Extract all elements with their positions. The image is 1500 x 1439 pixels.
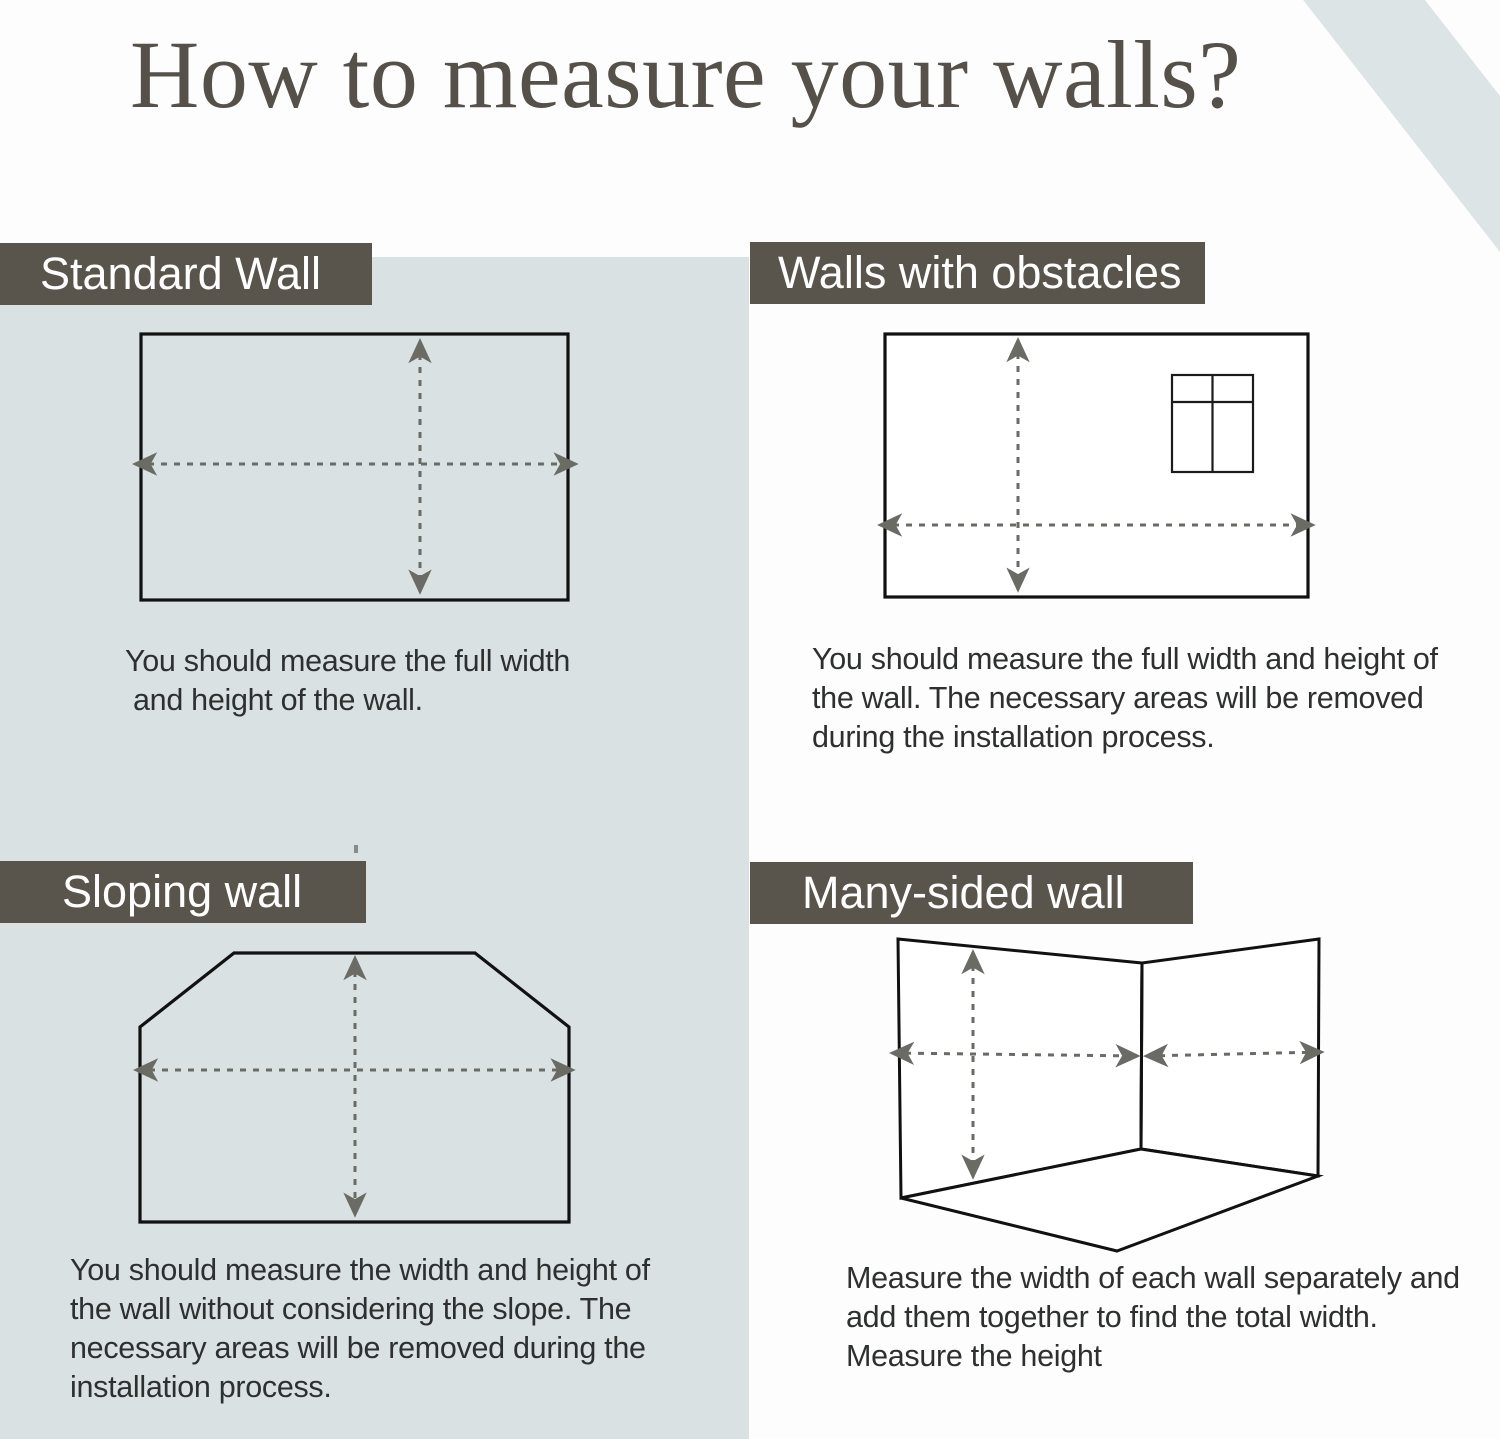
caption-many-sided-wall: Measure the width of each wall separatel… xyxy=(846,1259,1466,1376)
section-heading-walls-with-obstacles: Walls with obstacles xyxy=(750,242,1205,304)
diagram-walls-with-obstacles xyxy=(860,318,1340,618)
page-title: How to measure your walls? xyxy=(130,27,1380,123)
caption-standard-line-1: You should measure the full width xyxy=(125,644,570,678)
diagram-standard-wall xyxy=(110,318,600,618)
window-obstacle-icon xyxy=(1172,375,1253,472)
caption-walls-with-obstacles: You should measure the full width and he… xyxy=(812,640,1472,757)
wall-outline xyxy=(141,334,568,600)
corner-room-outline xyxy=(898,939,1319,1251)
diagram-sloping-wall xyxy=(110,930,610,1250)
caption-standard-wall: You should measure the full width and he… xyxy=(125,642,645,720)
section-heading-many-sided-wall: Many-sided wall xyxy=(750,862,1193,924)
infographic-page: How to measure your walls? Standard Wall… xyxy=(0,0,1500,1439)
caption-standard-line-2: and height of the wall. xyxy=(125,681,645,720)
caption-sloping-wall: You should measure the width and height … xyxy=(70,1251,680,1407)
section-heading-standard-wall: Standard Wall xyxy=(0,243,372,305)
speck-artifact xyxy=(354,845,358,853)
section-heading-sloping-wall: Sloping wall xyxy=(0,861,366,923)
diagram-many-sided-wall xyxy=(870,920,1350,1265)
